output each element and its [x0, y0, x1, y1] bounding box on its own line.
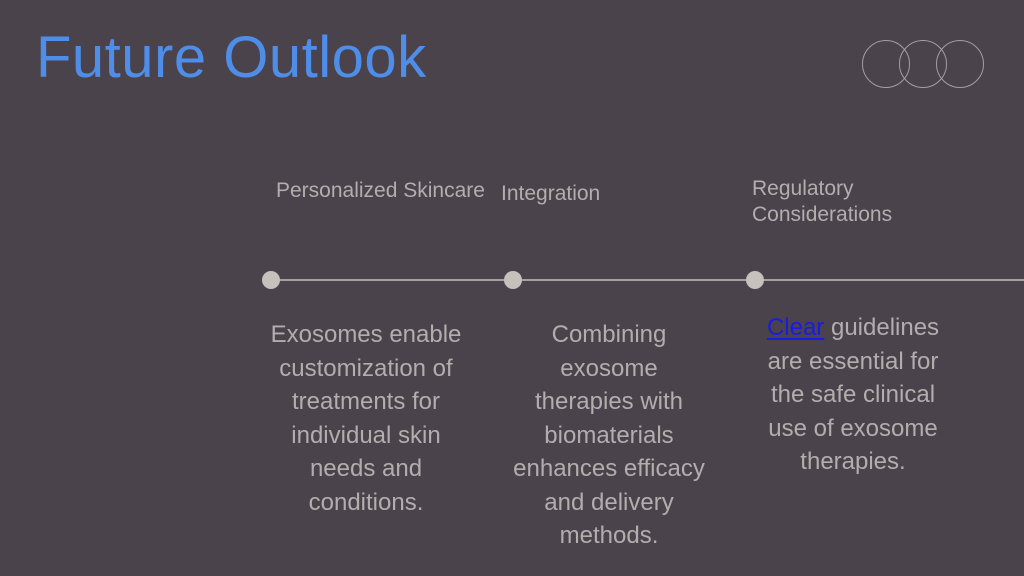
- three-circles-decoration: [862, 40, 988, 90]
- timeline-heading-regulatory-considerations: Regulatory Considerations: [752, 176, 967, 228]
- circle-icon-3: [936, 40, 984, 88]
- slide-canvas: Future Outlook Personalized Skincare Int…: [0, 0, 1024, 576]
- timeline-body-integration: Combining exosome therapies with biomate…: [511, 318, 707, 553]
- timeline-dot-3: [746, 271, 764, 289]
- timeline-heading-personalized-skincare: Personalized Skincare: [276, 178, 491, 204]
- timeline-body-personalized-skincare: Exosomes enable customization of treatme…: [268, 318, 464, 519]
- page-title: Future Outlook: [36, 22, 427, 94]
- timeline-axis: [262, 279, 1024, 281]
- clear-link[interactable]: Clear: [767, 314, 824, 341]
- timeline-heading-integration: Integration: [501, 181, 716, 207]
- timeline-body-regulatory-considerations: Clear guidelines are essential for the s…: [755, 311, 951, 479]
- timeline-dot-1: [262, 271, 280, 289]
- timeline-dot-2: [504, 271, 522, 289]
